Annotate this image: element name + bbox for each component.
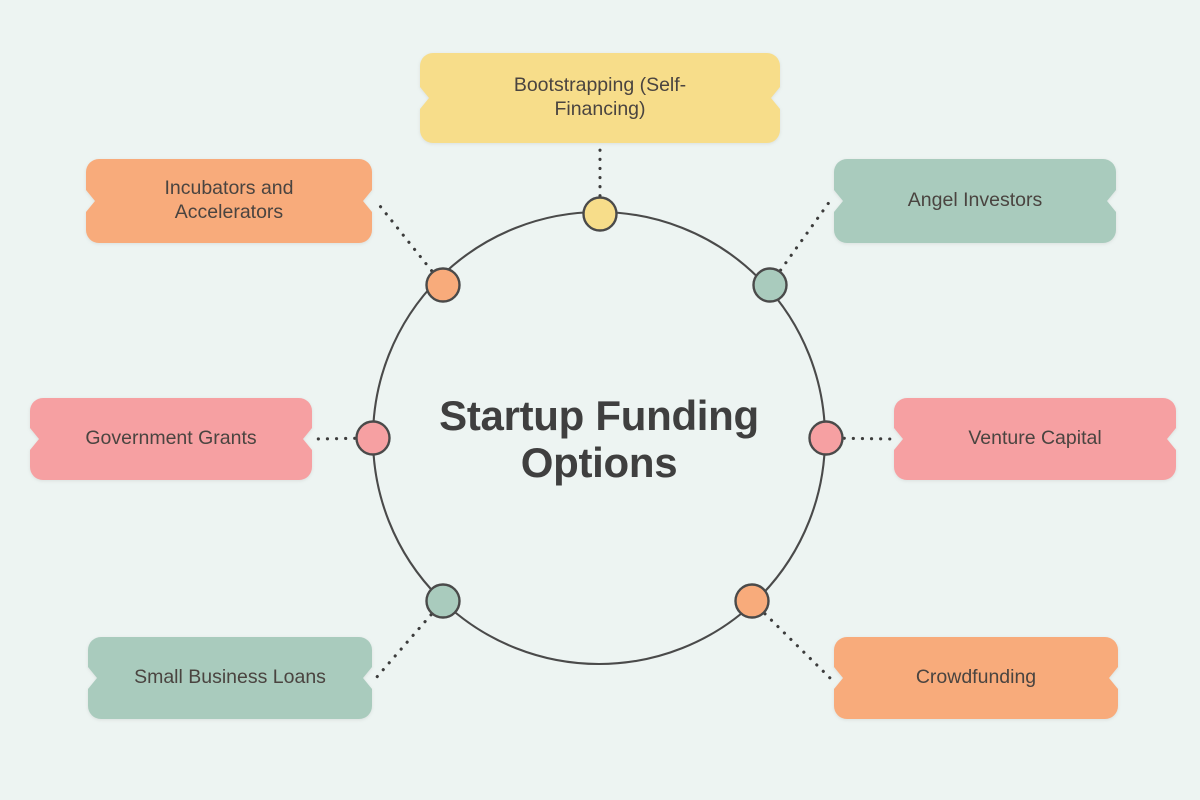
- node-label-small-business-loans[interactable]: Small Business Loans: [88, 637, 372, 719]
- node-label-text-angel-investors: Angel Investors: [908, 189, 1042, 213]
- node-dot-small-business-loans[interactable]: [427, 585, 460, 618]
- node-dot-venture-capital[interactable]: [810, 422, 843, 455]
- node-label-text-incubators-accelerators: Incubators and Accelerators: [164, 177, 293, 225]
- node-label-text-bootstrapping: Bootstrapping (Self- Financing): [514, 74, 686, 122]
- diagram-canvas: Startup Funding Options Bootstrapping (S…: [0, 0, 1200, 800]
- node-label-text-small-business-loans: Small Business Loans: [134, 666, 326, 690]
- node-label-text-venture-capital: Venture Capital: [968, 427, 1101, 451]
- connector-government-grants: [316, 438, 373, 439]
- node-dot-angel-investors[interactable]: [754, 269, 787, 302]
- node-label-crowdfunding[interactable]: Crowdfunding: [834, 637, 1118, 719]
- node-label-incubators-accelerators[interactable]: Incubators and Accelerators: [86, 159, 372, 243]
- node-label-venture-capital[interactable]: Venture Capital: [894, 398, 1176, 480]
- node-dot-bootstrapping[interactable]: [584, 198, 617, 231]
- connector-crowdfunding: [752, 601, 830, 678]
- connector-incubators-accelerators: [376, 201, 443, 285]
- node-label-text-government-grants: Government Grants: [85, 427, 256, 451]
- node-label-angel-investors[interactable]: Angel Investors: [834, 159, 1116, 243]
- node-dot-incubators-accelerators[interactable]: [427, 269, 460, 302]
- node-label-government-grants[interactable]: Government Grants: [30, 398, 312, 480]
- connector-small-business-loans: [376, 601, 443, 678]
- node-dot-crowdfunding[interactable]: [736, 585, 769, 618]
- center-hub-title: Startup Funding Options: [389, 392, 809, 486]
- node-dot-government-grants[interactable]: [357, 422, 390, 455]
- node-label-bootstrapping[interactable]: Bootstrapping (Self- Financing): [420, 53, 780, 143]
- node-label-text-crowdfunding: Crowdfunding: [916, 666, 1036, 690]
- connector-venture-capital: [826, 438, 890, 439]
- connector-angel-investors: [770, 201, 830, 285]
